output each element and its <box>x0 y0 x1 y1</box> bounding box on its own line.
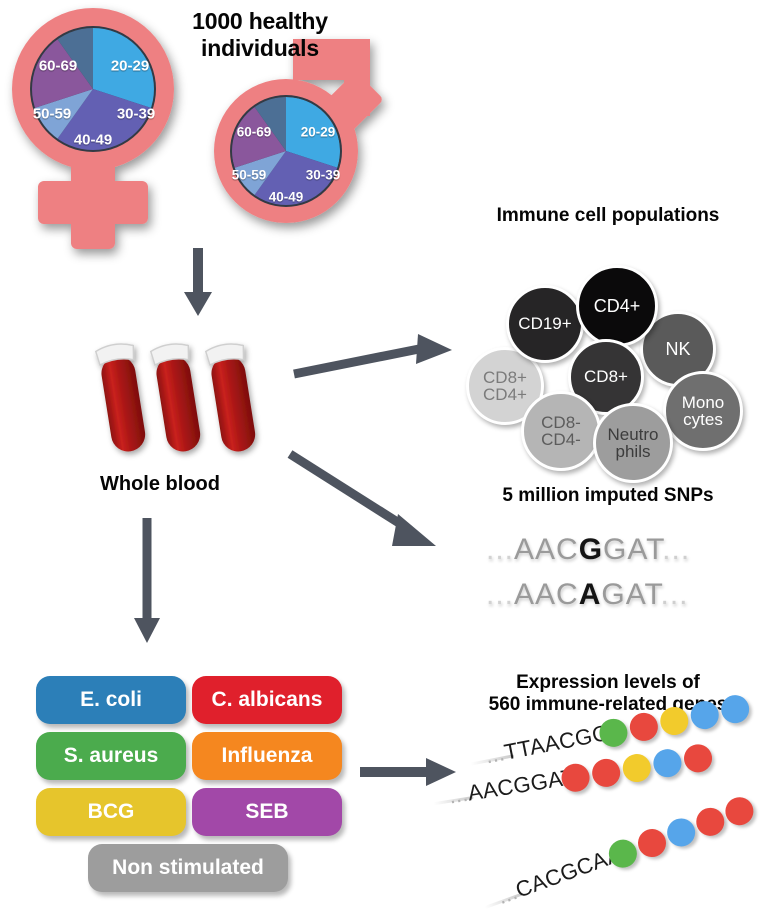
expression-bead <box>663 814 699 850</box>
expression-bead <box>590 757 622 789</box>
female-pie-label-40-49: 40-49 <box>74 132 112 149</box>
snp-variant-allele: G <box>579 533 603 566</box>
snp-suffix: ... <box>661 578 689 611</box>
snp-left: AAC <box>514 578 579 611</box>
stimulus-box-s-aureus[interactable]: S. aureus <box>36 732 186 780</box>
snp-prefix: ... <box>486 578 514 611</box>
figure-canvas: 20-29 30-39 40-49 50-59 60-69 <box>0 0 771 922</box>
arrow-stimuli-to-expression <box>360 752 460 792</box>
expression-bead <box>682 742 714 774</box>
female-pie-label-30-39: 30-39 <box>117 106 155 123</box>
expression-bead <box>634 825 670 861</box>
snp-right: GAT <box>601 578 660 611</box>
cell-label-line: CD4+ <box>483 386 527 403</box>
arrow-blood-to-stimuli <box>128 518 168 646</box>
immune-cell-cluster: CD8+CD4+ CD19+ CD4+ NK CD8+ CD8-CD4- Neu… <box>458 243 768 423</box>
expression-bead <box>651 747 683 779</box>
strand-sequence-text: ...CACGCAA <box>494 841 625 910</box>
cell-label: CD19+ <box>518 315 571 332</box>
male-pie-label-30-39: 30-39 <box>306 168 341 183</box>
arrow-blood-to-snps <box>288 448 453 558</box>
cell-label-line: CD4- <box>541 431 581 448</box>
cell-label-line: cytes <box>682 411 725 428</box>
male-pie-label-50-59: 50-59 <box>232 168 267 183</box>
snp-prefix: ... <box>486 533 514 566</box>
cell-label-line: CD8- <box>541 414 581 431</box>
stimulus-label: Influenza <box>221 744 312 768</box>
stimulus-label: BCG <box>88 800 135 824</box>
male-pie-label-60-69: 60-69 <box>237 125 272 140</box>
female-pie-label-60-69: 60-69 <box>39 58 77 75</box>
expression-strands: ...TTAACGG ...AACGGAT ...CACGCAA <box>452 730 771 922</box>
stimulus-label: SEB <box>245 800 288 824</box>
expression-bead <box>621 752 653 784</box>
cell-label-line: Neutro <box>607 426 658 443</box>
section-title-snps: 5 million imputed SNPs <box>452 485 764 507</box>
stimulus-box-seb[interactable]: SEB <box>192 788 342 836</box>
expression-bead <box>721 793 757 829</box>
strand-sequence-text: ...AACGGAT <box>447 764 577 810</box>
stimulus-box-bcg[interactable]: BCG <box>36 788 186 836</box>
immune-cell-neutrophils: Neutrophils <box>593 403 673 483</box>
stimulus-label: Non stimulated <box>112 856 264 880</box>
stimulus-box-e-coli[interactable]: E. coli <box>36 676 186 724</box>
snp-left: AAC <box>514 533 579 566</box>
immune-cell-cd19pos: CD19+ <box>506 285 584 363</box>
page-title-cohort: 1000 healthy individuals <box>150 8 370 62</box>
immune-cell-monocytes: Monocytes <box>663 371 743 451</box>
cell-label-line: phils <box>607 443 658 460</box>
blood-tubes-icon <box>92 338 272 466</box>
section-title-immune: Immune cell populations <box>452 205 764 227</box>
male-pie-label-40-49: 40-49 <box>269 190 304 205</box>
snp-variant-allele: A <box>579 578 602 611</box>
stimulus-label: S. aureus <box>64 744 159 768</box>
expression-bead <box>692 804 728 840</box>
arrow-blood-to-immune <box>292 330 457 390</box>
cell-label-line: CD8+ <box>483 369 527 386</box>
strand-sequence: AACGGAT <box>466 764 577 806</box>
stimulus-box-influenza[interactable]: Influenza <box>192 732 342 780</box>
snp-sequence-row-2: ...AACAGAT... <box>486 578 689 612</box>
strand-sequence-text: ...TTAACGG <box>483 720 612 770</box>
cell-label-line: Mono <box>682 394 725 411</box>
cell-label: NK <box>665 340 690 358</box>
stimulus-label: C. albicans <box>212 688 323 712</box>
strand-sequence: TTAACGG <box>502 720 612 765</box>
snp-right: GAT <box>603 533 662 566</box>
female-pie-label-50-59: 50-59 <box>33 106 71 123</box>
male-pie-label-20-29: 20-29 <box>301 125 336 140</box>
arrow-cohort-to-blood <box>178 248 218 318</box>
snp-suffix: ... <box>662 533 690 566</box>
immune-cell-cd4pos: CD4+ <box>576 265 658 347</box>
stimulus-label: E. coli <box>80 688 142 712</box>
female-pie-label-20-29: 20-29 <box>111 58 149 75</box>
stimulus-box-non-stimulated[interactable]: Non stimulated <box>88 844 288 892</box>
cell-label: CD8+ <box>584 368 628 385</box>
cell-label: CD4+ <box>594 297 641 315</box>
immune-cell-cd8neg-cd4neg: CD8-CD4- <box>521 391 601 471</box>
stimulus-box-c-albicans[interactable]: C. albicans <box>192 676 342 724</box>
snp-sequence-row-1: ...AACGGAT... <box>486 533 690 567</box>
label-whole-blood: Whole blood <box>55 473 265 497</box>
